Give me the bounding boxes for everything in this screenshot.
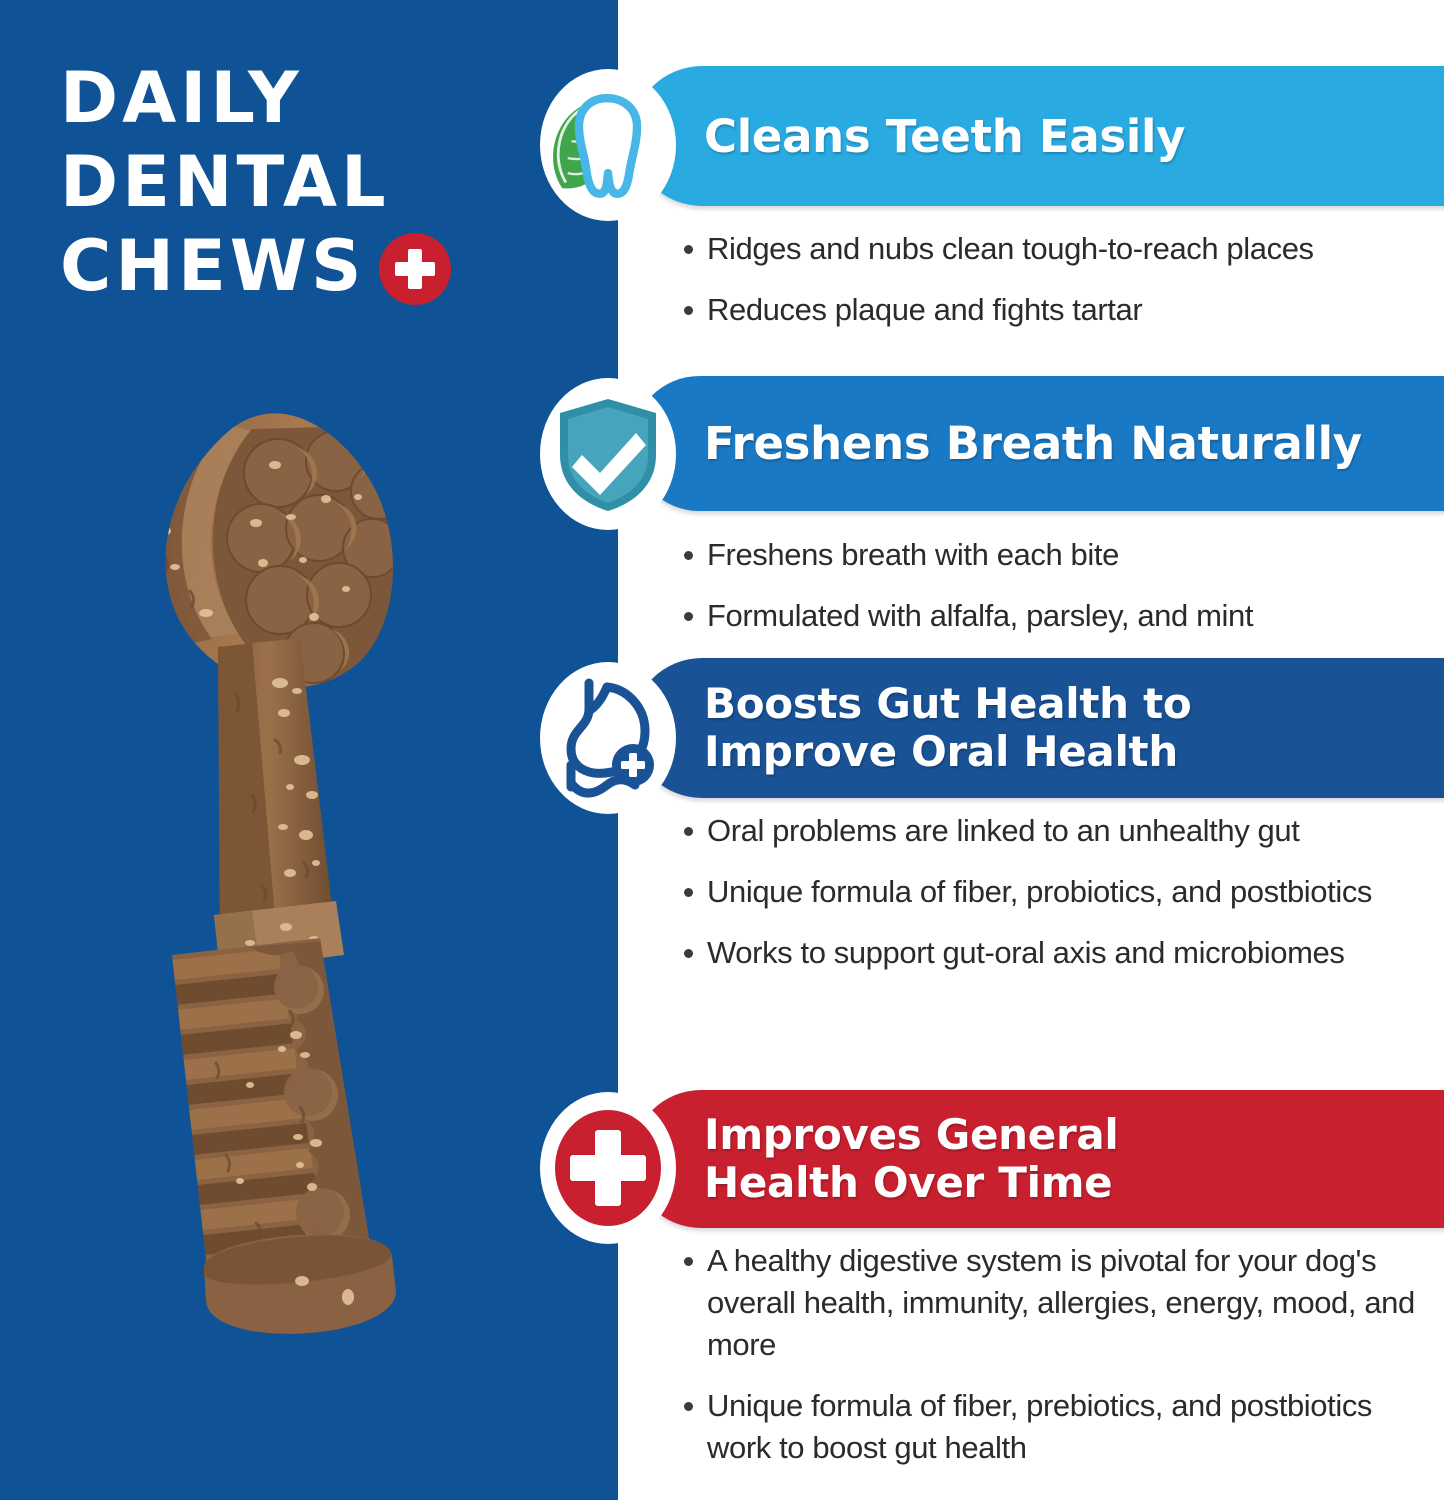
bullet-text: Reduces plaque and fights tartar: [707, 289, 1444, 331]
feature-heading-cleans-teeth: Cleans Teeth Easily: [704, 110, 1185, 163]
tooth-glyph: [579, 98, 637, 194]
feature-heading-gut-health-line2: Improve Oral Health: [704, 728, 1191, 776]
page-title: DAILY DENTAL CHEWS: [60, 56, 580, 308]
title-line-chews-row: CHEWS: [60, 224, 580, 308]
feature-banner-cleans-teeth: Cleans Teeth Easily: [632, 66, 1444, 206]
title-line-dental: DENTAL: [60, 140, 580, 224]
feature-bullets-cleans-teeth: Ridges and nubs clean tough-to-reach pla…: [684, 228, 1444, 350]
bullet-text: Unique formula of fiber, prebiotics, and…: [707, 1385, 1424, 1469]
list-item: Freshens breath with each bite: [684, 534, 1444, 576]
product-feature-infographic: DAILY DENTAL CHEWS: [0, 0, 1444, 1500]
bullet-text: Unique formula of fiber, probiotics, and…: [707, 871, 1444, 913]
shield-checkmark-icon: [540, 378, 676, 530]
medical-cross-icon-inner: [549, 1101, 667, 1235]
feature-heading-general-health: Improves General Health Over Time: [704, 1111, 1119, 1207]
feature-heading-general-health-line2: Health Over Time: [704, 1159, 1119, 1207]
list-item: Reduces plaque and fights tartar: [684, 289, 1444, 331]
medical-cross-circle-icon: [540, 1092, 676, 1244]
tooth-icon-inner: [549, 78, 667, 212]
list-item: Works to support gut-oral axis and micro…: [684, 932, 1444, 974]
feature-bullets-freshens-breath: Freshens breath with each bite Formulate…: [684, 534, 1444, 656]
medical-cross-icon: [379, 233, 451, 305]
list-item: Unique formula of fiber, prebiotics, and…: [684, 1385, 1424, 1469]
bullet-dot-icon: [684, 306, 693, 315]
chew-bottom-cap: [204, 1234, 396, 1334]
dog-dental-chew-bone-illustration: [100, 395, 540, 1355]
feature-heading-freshens-breath: Freshens Breath Naturally: [704, 417, 1362, 470]
list-item: A healthy digestive system is pivotal fo…: [684, 1240, 1424, 1366]
list-item: Unique formula of fiber, probiotics, and…: [684, 871, 1444, 913]
bullet-text: Freshens breath with each bite: [707, 534, 1444, 576]
list-item: Ridges and nubs clean tough-to-reach pla…: [684, 228, 1444, 270]
feature-bullets-general-health: A healthy digestive system is pivotal fo…: [684, 1240, 1424, 1488]
bullet-dot-icon: [684, 1257, 693, 1266]
list-item: Formulated with alfalfa, parsley, and mi…: [684, 595, 1444, 637]
feature-banner-general-health: Improves General Health Over Time: [632, 1090, 1444, 1228]
title-line-chews: CHEWS: [60, 224, 365, 308]
bullet-dot-icon: [684, 827, 693, 836]
bullet-dot-icon: [684, 949, 693, 958]
feature-banner-freshens-breath: Freshens Breath Naturally: [632, 376, 1444, 511]
bullet-dot-icon: [684, 245, 693, 254]
list-item: Oral problems are linked to an unhealthy…: [684, 810, 1444, 852]
feature-heading-gut-health-line1: Boosts Gut Health to: [704, 680, 1191, 728]
bullet-text: Oral problems are linked to an unhealthy…: [707, 810, 1444, 852]
shield-icon-inner: [549, 387, 667, 521]
feature-heading-gut-health: Boosts Gut Health to Improve Oral Health: [704, 680, 1191, 776]
feature-bullets-gut-health: Oral problems are linked to an unhealthy…: [684, 810, 1444, 993]
feature-heading-general-health-line1: Improves General: [704, 1111, 1119, 1159]
bullet-dot-icon: [684, 551, 693, 560]
bullet-text: Ridges and nubs clean tough-to-reach pla…: [707, 228, 1444, 270]
tooth-with-mint-leaf-icon: [540, 69, 676, 221]
feature-banner-gut-health: Boosts Gut Health to Improve Oral Health: [632, 658, 1444, 798]
bullet-text: A healthy digestive system is pivotal fo…: [707, 1240, 1424, 1366]
bullet-text: Formulated with alfalfa, parsley, and mi…: [707, 595, 1444, 637]
title-line-daily: DAILY: [60, 56, 580, 140]
bullet-text: Works to support gut-oral axis and micro…: [707, 932, 1444, 974]
stomach-icon-inner: [549, 671, 667, 805]
bullet-dot-icon: [684, 1402, 693, 1411]
stomach-plus-icon: [540, 662, 676, 814]
bullet-dot-icon: [684, 888, 693, 897]
bullet-dot-icon: [684, 612, 693, 621]
